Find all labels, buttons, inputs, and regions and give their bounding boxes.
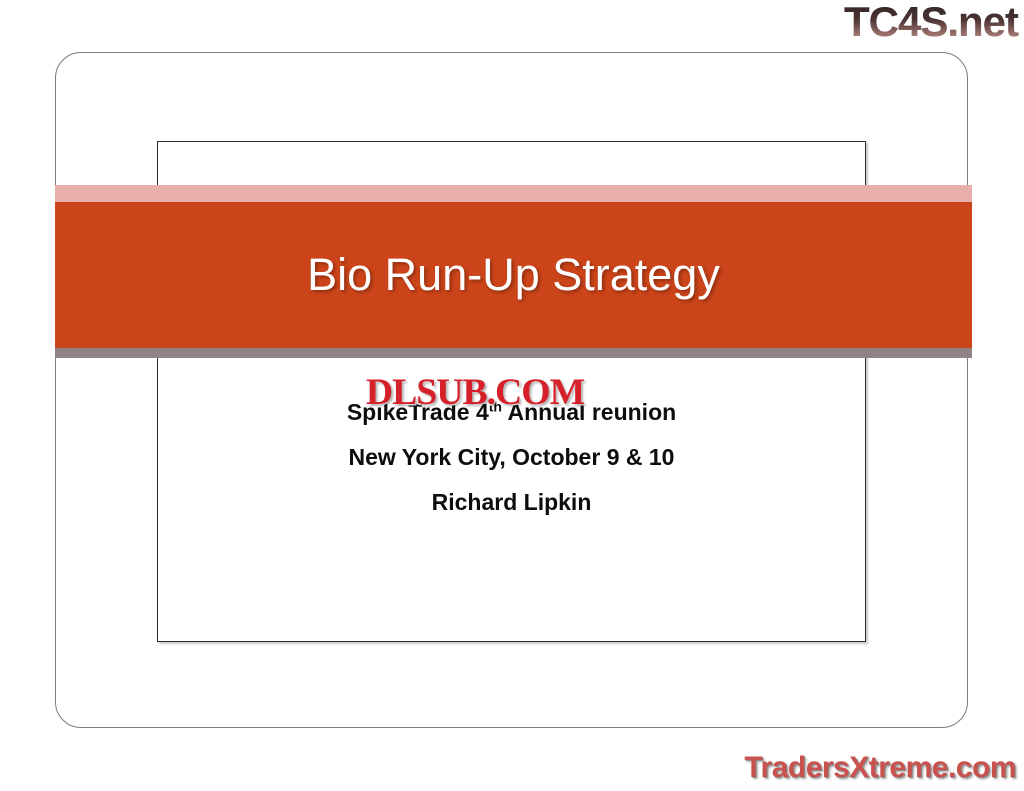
bottom-right-watermark: TradersXtreme.com (744, 751, 1016, 785)
subtitle-line-presenter: Richard Lipkin (157, 480, 866, 525)
title-banner: Bio Run-Up Strategy (55, 185, 972, 358)
page-title: Bio Run-Up Strategy (55, 202, 972, 348)
center-watermark: DLSUB.COM (366, 371, 584, 414)
banner-top-stripe (55, 185, 972, 202)
banner-bottom-stripe (55, 348, 972, 358)
subtitle-line-location: New York City, October 9 & 10 (157, 435, 866, 480)
top-right-watermark: TC4S.net (844, 0, 1018, 46)
